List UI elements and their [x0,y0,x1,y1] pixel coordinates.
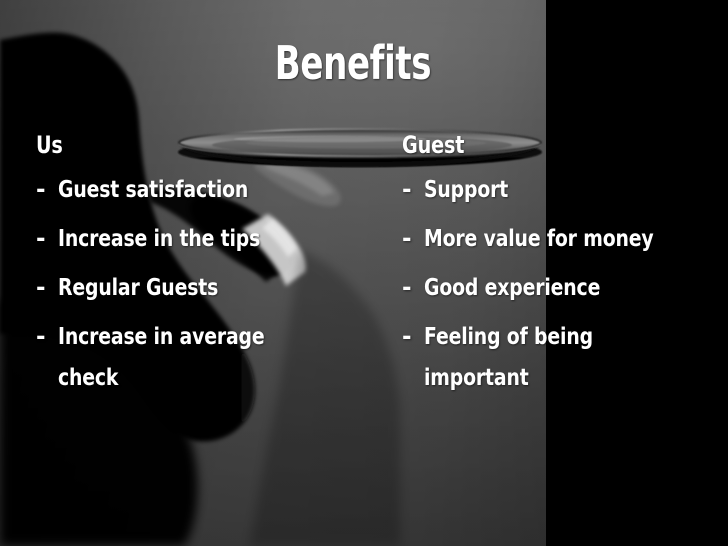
bullet-marker-icon: - [402,317,424,358]
list-item: - Feeling of being important [402,317,724,399]
bullet-list-us: - Guest satisfaction - Increase in the t… [36,170,384,399]
column-guest: Guest - Support - More value for money -… [402,130,724,407]
column-heading-guest: Guest [402,130,660,160]
bullet-text: Support [424,170,670,211]
page-title: Benefits [92,38,614,88]
bullet-marker-icon: - [402,219,424,260]
bullet-list-guest: - Support - More value for money - Good … [402,170,724,399]
bullet-marker-icon: - [36,317,58,358]
list-item: - Increase in average check [36,317,384,399]
slide-canvas: Benefits Us - Guest satisfaction - Incre… [0,0,728,546]
bullet-text: Increase in the tips [58,219,325,260]
column-us: Us - Guest satisfaction - Increase in th… [36,130,384,407]
bullet-marker-icon: - [36,170,58,211]
bullet-text: Guest satisfaction [58,170,325,211]
list-item: - Guest satisfaction [36,170,384,211]
bullet-text: Increase in average check [58,317,325,399]
bullet-text: Feeling of being important [424,317,670,399]
list-item: - Support [402,170,724,211]
bullet-marker-icon: - [36,219,58,260]
bullet-marker-icon: - [36,268,58,309]
list-item: - Regular Guests [36,268,384,309]
bullet-marker-icon: - [402,170,424,211]
list-item: - Good experience [402,268,724,309]
column-heading-us: Us [36,130,314,160]
bullet-text: More value for money [424,219,670,260]
list-item: - Increase in the tips [36,219,384,260]
bullet-text: Regular Guests [58,268,325,309]
list-item: - More value for money [402,219,724,260]
bullet-text: Good experience [424,268,670,309]
bullet-marker-icon: - [402,268,424,309]
